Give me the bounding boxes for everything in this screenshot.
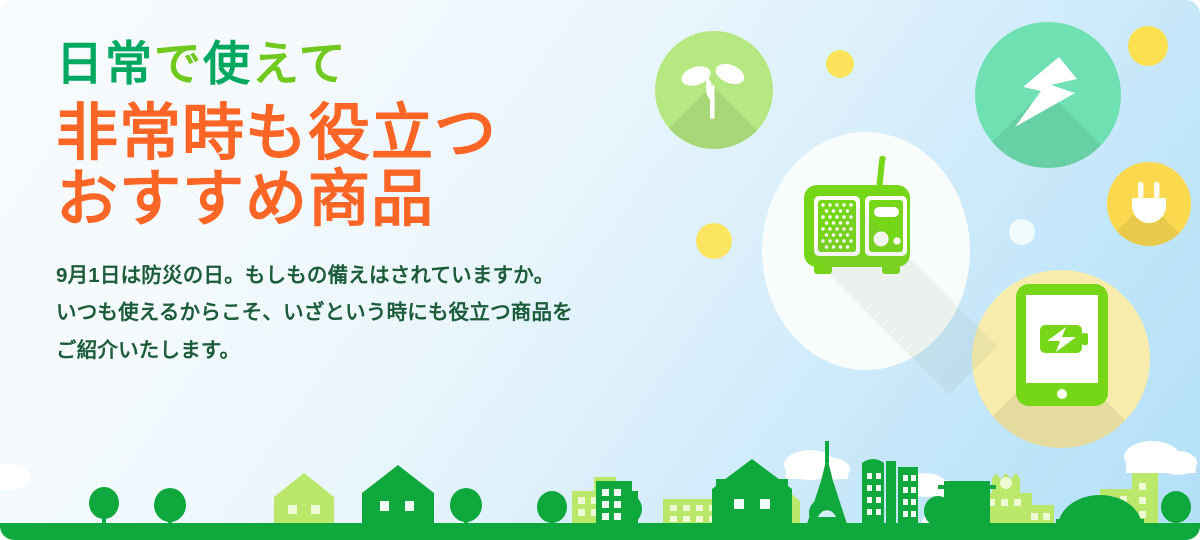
lead-line-2: いつも使えるからこそ、いざという時にも役立つ商品を <box>56 297 716 329</box>
promo-banner: 日常で使えて 非常時も役立つ おすすめ商品 9月1日は防災の日。もしもの備えはさ… <box>0 0 1200 540</box>
decorative-dot-white-1 <box>1009 219 1035 245</box>
power-plug-icon <box>1129 182 1169 226</box>
headline-seg-2: で <box>154 37 203 90</box>
tablet-battery-icon <box>1016 284 1108 406</box>
lightning-bolt-icon <box>1015 57 1081 133</box>
cityscape-illustration <box>0 405 1200 540</box>
headline-seg-1: 日常 <box>56 37 154 90</box>
decorative-dot-yellow-1 <box>826 50 854 78</box>
plug-icon-circle <box>1107 162 1191 246</box>
headline-seg-4: えて <box>252 37 348 90</box>
headline-seg-3: 使 <box>203 37 252 90</box>
headline-line-2: 非常時も役立つ <box>56 101 716 167</box>
tablet-illustration <box>1016 284 1108 406</box>
copy-block: 日常で使えて 非常時も役立つ おすすめ商品 9月1日は防災の日。もしもの備えはさ… <box>56 40 716 373</box>
lead-paragraph: 9月1日は防災の日。もしもの備えはされていますか。 いつも使えるからこそ、いざと… <box>56 260 716 367</box>
headline-line-1: 日常で使えて <box>56 40 716 87</box>
headline-line-3: おすすめ商品 <box>56 167 716 233</box>
decorative-dot-yellow-2 <box>1128 26 1168 66</box>
lightning-icon-circle <box>975 22 1121 168</box>
lead-line-3: ご紹介いたします。 <box>56 335 716 367</box>
lead-line-1: 9月1日は防災の日。もしもの備えはされていますか。 <box>56 260 716 292</box>
radio-illustration <box>800 145 920 280</box>
